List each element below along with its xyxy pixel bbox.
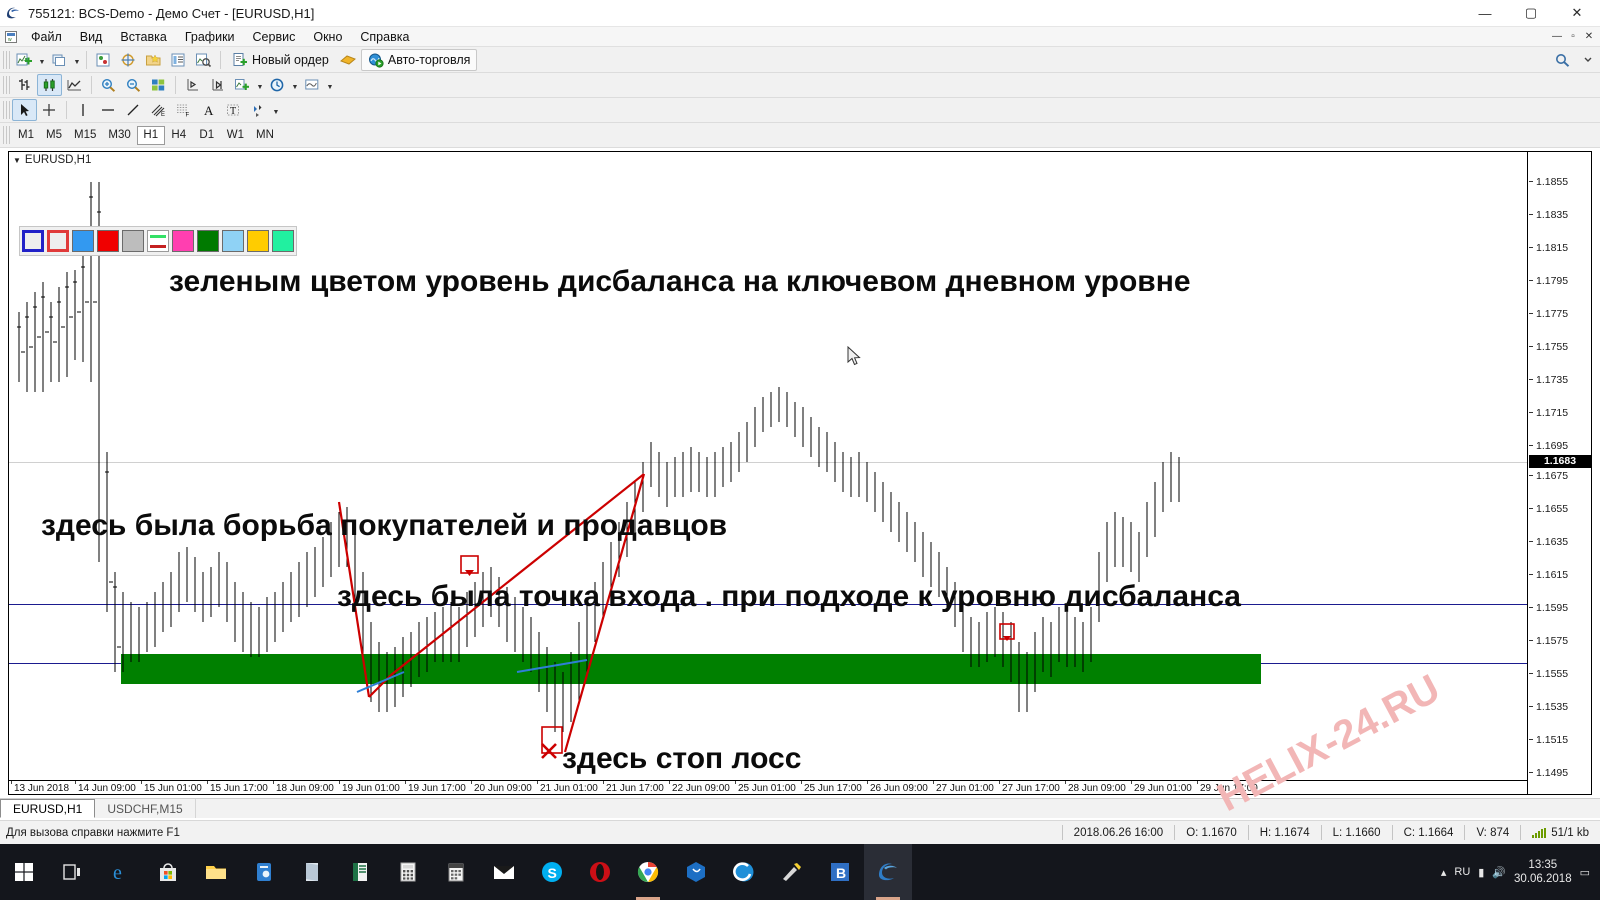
clock-time: 13:35 (1514, 858, 1572, 872)
terminal-icon[interactable] (166, 49, 191, 71)
paint-tools-icon[interactable] (768, 844, 816, 900)
autotrading-icon (368, 52, 384, 68)
price-tick: 1.1695 (1528, 440, 1592, 452)
autotrading-button[interactable]: Авто-торговля (361, 49, 478, 71)
svg-text:w: w (8, 37, 12, 43)
menu-insert[interactable]: Вставка (111, 28, 175, 46)
svg-text:A: A (204, 103, 214, 118)
ccleaner-icon[interactable] (720, 844, 768, 900)
start-button[interactable] (0, 844, 48, 900)
annotation-buyers-sellers: здесь была борьба покупателей и продавцо… (41, 509, 727, 543)
price-tick: 1.1675 (1528, 470, 1592, 482)
period-m5[interactable]: M5 (40, 126, 68, 145)
metatrader-taskbar-icon[interactable] (864, 844, 912, 900)
price-tick: 1.1855 (1528, 176, 1592, 188)
chart-symbol-text: EURUSD,H1 (25, 154, 91, 166)
new-order-icon (232, 52, 248, 68)
minimize-button[interactable]: — (1462, 0, 1508, 27)
svg-text:T: T (230, 106, 236, 117)
title-bar: 755121: BCS-Demo - Демо Счет - [EURUSD,H… (0, 0, 1600, 27)
browser-blue-icon[interactable] (672, 844, 720, 900)
price-tick: 1.1835 (1528, 209, 1592, 221)
chart-tab-usdchf-m15[interactable]: USDCHF,M15 (95, 799, 195, 818)
profiles-dropdown-icon[interactable]: ▼ (72, 49, 82, 71)
chart-plot-area[interactable]: зеленым цветом уровень дисбаланса на клю… (9, 152, 1527, 794)
price-tick: 1.1515 (1528, 734, 1592, 746)
toolbar-standard: ▼ ▼ (0, 47, 1600, 73)
fibonacci-icon[interactable]: F (171, 99, 196, 121)
menu-window[interactable]: Окно (304, 28, 351, 46)
data-window-icon[interactable] (116, 49, 141, 71)
status-bar: Для вызова справки нажмите F1 2018.06.26… (0, 820, 1600, 844)
menu-charts[interactable]: Графики (176, 28, 244, 46)
toolbar-grip[interactable] (3, 51, 10, 69)
trendline-icon[interactable] (121, 99, 146, 121)
notepad-icon[interactable] (288, 844, 336, 900)
microsoft-store-icon[interactable] (144, 844, 192, 900)
shapes-dropdown-icon[interactable]: ▼ (271, 99, 281, 121)
tray-network-icon[interactable]: ▮ (1478, 866, 1484, 879)
status-open: O: 1.1670 (1174, 825, 1248, 840)
menu-bar: w Файл Вид Вставка Графики Сервис Окно С… (0, 27, 1600, 47)
new-chart-dropdown-icon[interactable]: ▼ (37, 49, 47, 71)
period-h1[interactable]: H1 (137, 126, 165, 145)
swatch-skyblue[interactable] (222, 230, 244, 252)
annotation-entry-point: здесь была точка входа . при подходе к у… (337, 580, 1241, 614)
tray-volume-icon[interactable]: 🔊 (1492, 866, 1506, 879)
task-view-icon[interactable] (48, 844, 96, 900)
price-tick: 1.1635 (1528, 536, 1592, 548)
price-tick: 1.1775 (1528, 308, 1592, 320)
current-price-badge: 1.1683 (1529, 455, 1591, 468)
price-tick: 1.1575 (1528, 635, 1592, 647)
period-d1[interactable]: D1 (193, 126, 221, 145)
swatch-grey[interactable] (122, 230, 144, 252)
price-tick: 1.1655 (1528, 503, 1592, 515)
chrome-icon[interactable] (624, 844, 672, 900)
chart-tabs-bar: EURUSD,H1 USDCHF,M15 (0, 798, 1600, 818)
strategy-tester-icon[interactable] (191, 49, 216, 71)
svg-text:E: E (161, 112, 165, 118)
excel-icon[interactable] (336, 844, 384, 900)
new-chart-icon[interactable] (12, 49, 37, 71)
bar-chart-icon[interactable] (12, 74, 37, 96)
price-tick: 1.1715 (1528, 407, 1592, 419)
svg-text:F: F (186, 113, 190, 119)
edge-icon[interactable]: e (96, 844, 144, 900)
profiles-icon[interactable] (47, 49, 72, 71)
color-palette-toolbar[interactable] (19, 226, 297, 256)
status-traffic-label: 51/1 kb (1551, 827, 1589, 839)
mail-icon[interactable] (480, 844, 528, 900)
settings-app-icon[interactable] (240, 844, 288, 900)
mdi-minimize-button[interactable]: — (1550, 30, 1564, 44)
chart-symbol-label: ▼ EURUSD,H1 (13, 154, 91, 166)
clock-date: 30.06.2018 (1514, 872, 1572, 886)
skype-icon[interactable]: S (528, 844, 576, 900)
toolbar-line-studies: E F A T ▼ (0, 98, 1600, 123)
price-tick: 1.1795 (1528, 275, 1592, 287)
windows-taskbar: e (0, 844, 1600, 900)
close-button[interactable]: ✕ (1554, 0, 1600, 27)
status-close: C: 1.1664 (1392, 825, 1465, 840)
period-dropdown-icon[interactable]: ▼ (290, 74, 300, 96)
price-tick: 1.1735 (1528, 374, 1592, 386)
price-tick: 1.1815 (1528, 242, 1592, 254)
chart-collapse-icon[interactable]: ▼ (13, 156, 21, 165)
annotation-stop-loss: здесь стоп лосс (562, 742, 801, 776)
svg-text:S: S (548, 865, 557, 881)
mdi-restore-button[interactable]: ▫ (1566, 30, 1580, 44)
sell-arrow-1-icon (461, 556, 478, 576)
status-hint: Для вызова справки нажмите F1 (0, 827, 180, 839)
status-high: H: 1.1674 (1248, 825, 1321, 840)
action-center-icon[interactable]: ▭ (1580, 866, 1590, 879)
menu-view[interactable]: Вид (71, 28, 112, 46)
svg-text:e: e (113, 862, 122, 884)
sell-arrow-2-icon (1000, 624, 1014, 641)
status-low: L: 1.1660 (1321, 825, 1392, 840)
calculator-icon[interactable] (384, 844, 432, 900)
arrows-shapes-icon[interactable] (246, 99, 271, 121)
indicators-dropdown-icon[interactable]: ▼ (255, 74, 265, 96)
line-chart-icon[interactable] (62, 74, 87, 96)
autotrading-label: Авто-торговля (388, 53, 471, 67)
swatch-navy-outline[interactable] (22, 230, 44, 252)
templates-dropdown-icon[interactable]: ▼ (325, 74, 335, 96)
swatch-gold[interactable] (247, 230, 269, 252)
calendar-icon[interactable] (432, 844, 480, 900)
equidistant-channel-icon[interactable]: E (146, 99, 171, 121)
zoom-out-icon[interactable] (121, 74, 146, 96)
candlestick-chart-icon[interactable] (37, 74, 62, 96)
connection-strength-icon (1532, 828, 1546, 838)
navigator-icon[interactable] (141, 49, 166, 71)
status-volume: V: 874 (1464, 825, 1520, 840)
text-icon[interactable]: A (196, 99, 221, 121)
bitrix-icon[interactable]: B (816, 844, 864, 900)
chart-window[interactable]: ▼ EURUSD,H1 (8, 151, 1592, 795)
new-order-label: Новый ордер (252, 53, 329, 67)
chart-shift-icon[interactable] (205, 74, 230, 96)
period-w1[interactable]: W1 (221, 126, 250, 145)
mdi-close-button[interactable]: ✕ (1582, 30, 1596, 44)
maximize-button[interactable]: ▢ (1508, 0, 1554, 27)
price-tick: 1.1595 (1528, 602, 1592, 614)
file-explorer-icon[interactable] (192, 844, 240, 900)
metatrader-icon (0, 0, 26, 26)
auto-scroll-icon[interactable] (180, 74, 205, 96)
swatch-darkgreen[interactable] (197, 230, 219, 252)
toolbar-charts: ▼ ▼ ▼ (0, 73, 1600, 98)
toolbar-grip-periods[interactable] (3, 126, 10, 144)
period-m1[interactable]: M1 (12, 126, 40, 145)
window-title: 755121: BCS-Demo - Демо Счет - [EURUSD,H… (26, 6, 314, 21)
svg-text:B: B (836, 865, 846, 881)
swatch-red[interactable] (97, 230, 119, 252)
zoom-in-icon[interactable] (96, 74, 121, 96)
period-m30[interactable]: M30 (102, 126, 136, 145)
status-traffic: 51/1 kb (1520, 825, 1600, 840)
period-mn[interactable]: MN (250, 126, 280, 145)
price-tick: 1.1555 (1528, 668, 1592, 680)
swatch-lightblue[interactable] (72, 230, 94, 252)
system-tray: ▴ RU ▮ 🔊 13:35 30.06.2018 ▭ (1441, 858, 1600, 887)
mdi-document-icon: w (0, 28, 22, 46)
swatch-red-outline[interactable] (47, 230, 69, 252)
toolbar-overflow-icon[interactable] (1575, 49, 1600, 71)
toolbar-periods: M1 M5 M15 M30 H1 H4 D1 W1 MN (0, 123, 1600, 148)
price-tick: 1.1615 (1528, 569, 1592, 581)
time-scale[interactable]: 13 Jun 2018 14 Jun 09:00 15 Jun 01:00 15… (9, 780, 1527, 794)
menu-help[interactable]: Справка (351, 28, 418, 46)
cursor-icon[interactable] (12, 99, 37, 121)
indicators-icon[interactable] (230, 74, 255, 96)
mql5-community-icon[interactable] (336, 49, 361, 71)
new-order-button[interactable]: Новый ордер (225, 49, 336, 71)
horizontal-line-icon[interactable] (96, 99, 121, 121)
menu-file[interactable]: Файл (22, 28, 71, 46)
period-clock-icon[interactable] (265, 74, 290, 96)
price-tick: 1.1755 (1528, 341, 1592, 353)
market-watch-icon[interactable] (91, 49, 116, 71)
search-icon[interactable] (1550, 49, 1575, 71)
swatch-springgreen[interactable] (272, 230, 294, 252)
menu-tools[interactable]: Сервис (244, 28, 305, 46)
price-tick: 1.1535 (1528, 701, 1592, 713)
swatch-greenred-bars[interactable] (147, 230, 169, 252)
opera-icon[interactable] (576, 844, 624, 900)
annotation-green-imbalance: зеленым цветом уровень дисбаланса на клю… (169, 265, 1191, 299)
toolbar-grip-charts[interactable] (3, 76, 10, 94)
vertical-line-icon[interactable] (71, 99, 96, 121)
toolbar-grip-studies[interactable] (3, 101, 10, 119)
text-label-icon[interactable]: T (221, 99, 246, 121)
crosshair-icon[interactable] (37, 99, 62, 121)
chart-tab-eurusd-h1[interactable]: EURUSD,H1 (0, 799, 95, 818)
templates-icon[interactable] (300, 74, 325, 96)
taskbar-clock[interactable]: 13:35 30.06.2018 (1514, 858, 1572, 887)
swatch-pink[interactable] (172, 230, 194, 252)
price-tick: 1.1495 (1528, 767, 1592, 779)
price-scale[interactable]: 1.1855 1.1835 1.1815 1.1795 1.1775 1.175… (1527, 152, 1591, 794)
status-datetime: 2018.06.26 16:00 (1062, 825, 1175, 840)
period-m15[interactable]: M15 (68, 126, 102, 145)
tray-language-indicator[interactable]: RU (1454, 866, 1470, 878)
metatrader-window: 755121: BCS-Demo - Демо Счет - [EURUSD,H… (0, 0, 1600, 900)
period-h4[interactable]: H4 (165, 126, 193, 145)
tray-overflow-icon[interactable]: ▴ (1441, 866, 1447, 879)
tile-windows-icon[interactable] (146, 74, 171, 96)
stop-loss-cross-icon (542, 727, 562, 758)
